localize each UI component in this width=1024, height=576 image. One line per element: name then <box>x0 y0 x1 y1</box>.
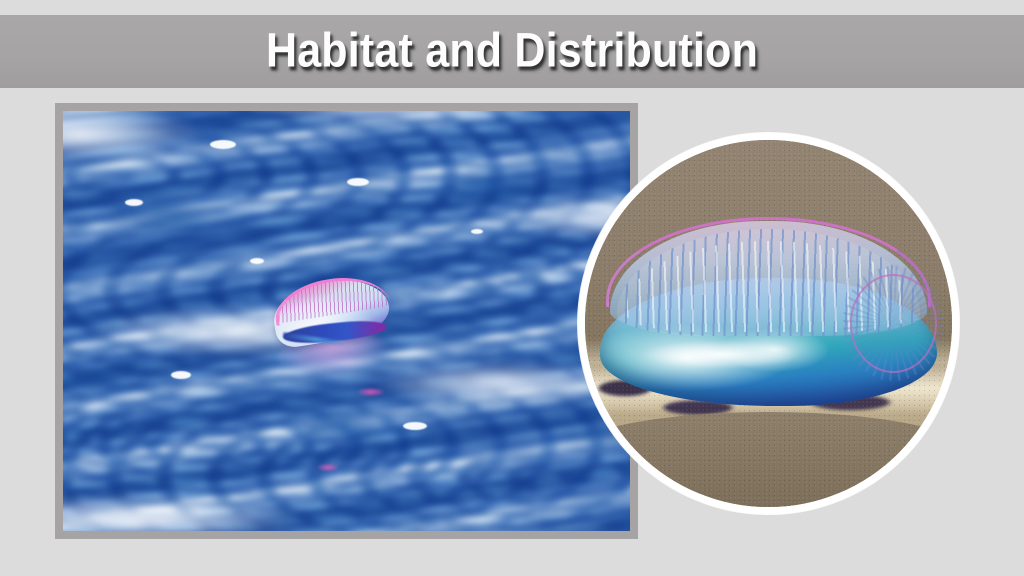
title-banner: Habitat and Distribution <box>0 15 1024 88</box>
man-o-war-specular-highlight <box>640 340 802 369</box>
distant-man-o-war-speck <box>318 464 338 471</box>
right-photo-beach-stranded <box>585 140 952 507</box>
man-o-war-floating <box>267 279 397 375</box>
page-title: Habitat and Distribution <box>266 24 758 79</box>
right-photo-circle-frame <box>578 133 959 514</box>
water-bubble-highlight <box>347 178 369 186</box>
water-bubble-highlight <box>250 258 264 264</box>
man-o-war-tangle-rim <box>850 274 938 373</box>
man-o-war-stranded <box>600 221 938 427</box>
water-bubble-highlight <box>471 229 483 234</box>
left-photo-frame <box>55 103 638 539</box>
left-photo-ocean-surface <box>63 111 630 531</box>
water-bubble-highlight <box>403 422 427 430</box>
